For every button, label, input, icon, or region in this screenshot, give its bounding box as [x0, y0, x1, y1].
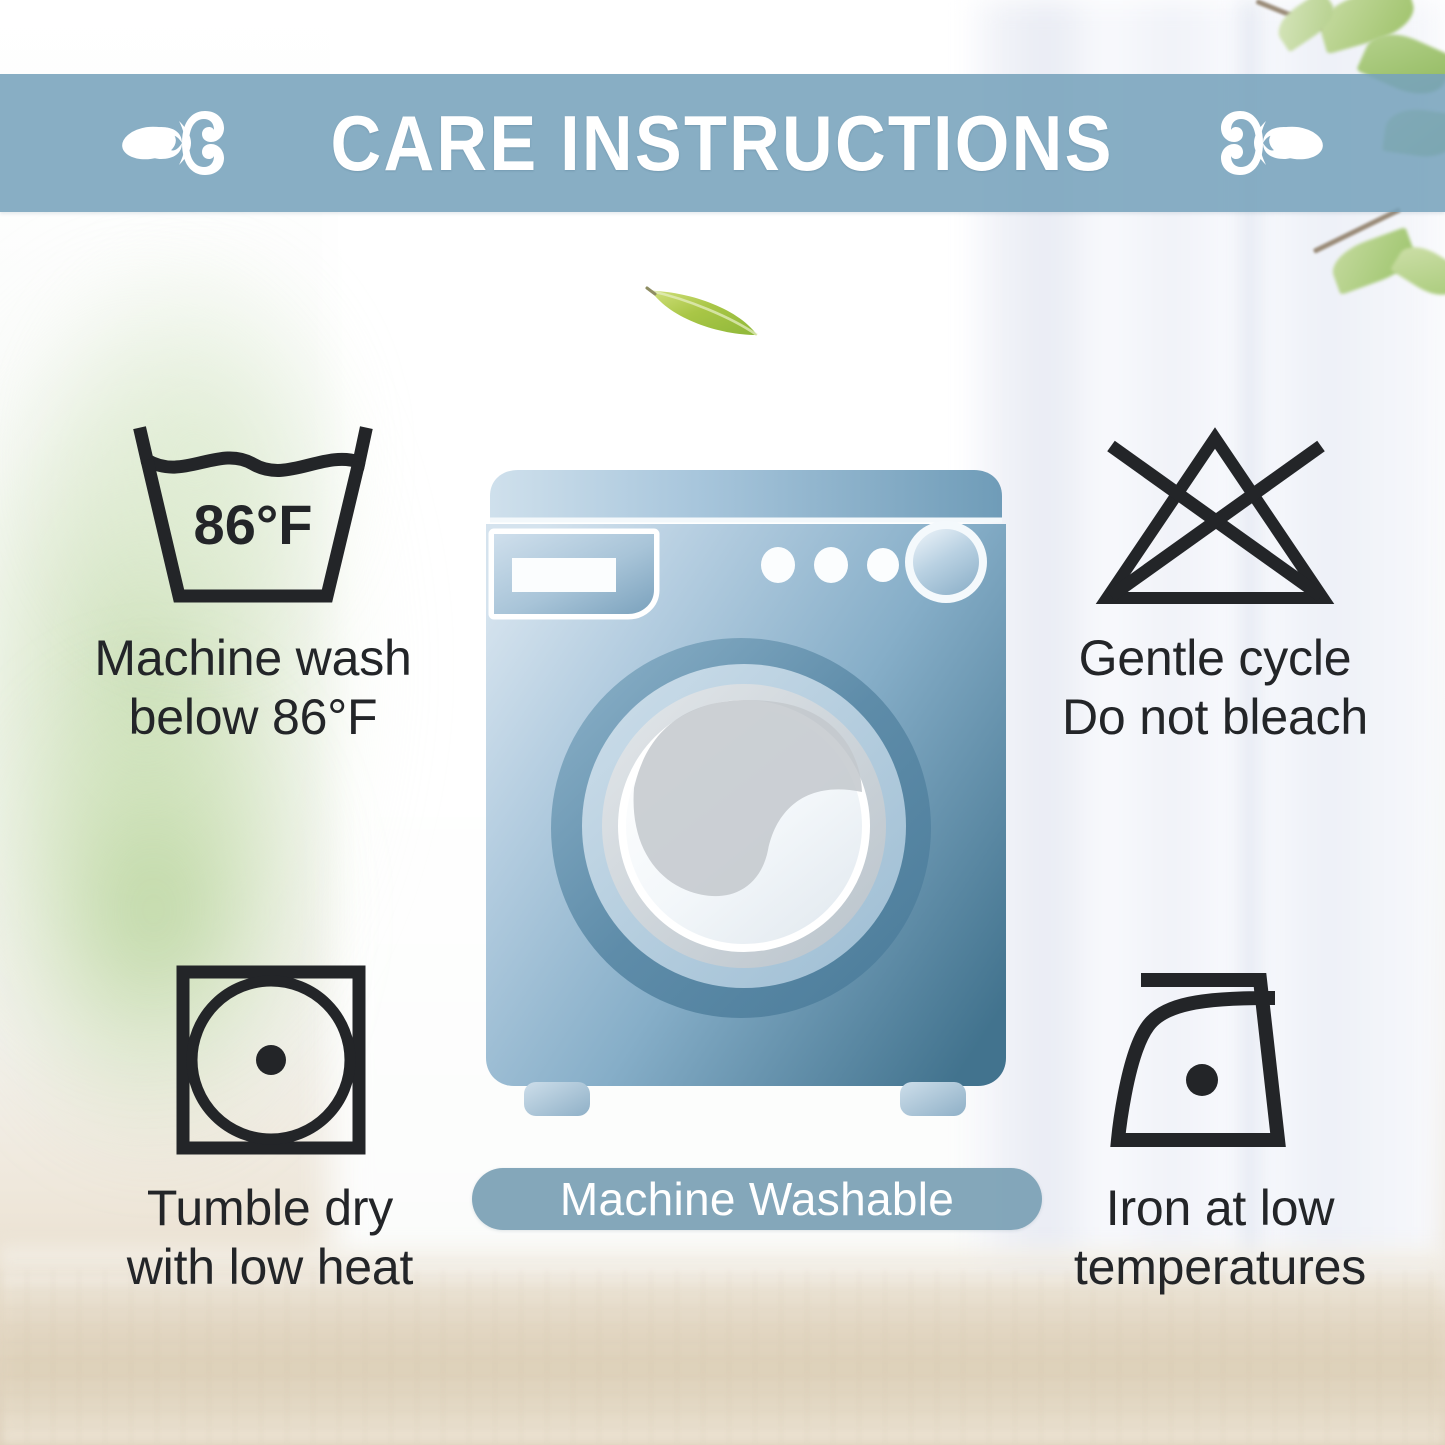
detergent-drawer [494, 534, 654, 614]
indicator-light [867, 548, 899, 582]
washing-machine-illustration [476, 458, 1016, 1138]
care-icon-do-not-bleach: Gentle cycle Do not bleach [1000, 420, 1430, 747]
washer-foot [524, 1082, 590, 1116]
falling-leaf-icon [645, 283, 763, 341]
do-not-bleach-triangle-icon [1085, 420, 1345, 615]
control-knob [905, 521, 987, 603]
care-icon-caption: Iron at low temperatures [1074, 1179, 1366, 1297]
machine-washable-badge: Machine Washable [472, 1168, 1042, 1230]
washer-door [551, 638, 931, 1018]
indicator-light [814, 547, 848, 583]
care-icon-caption: Gentle cycle Do not bleach [1062, 629, 1368, 747]
washer-foot [900, 1082, 966, 1116]
care-icon-machine-wash: 86°F Machine wash below 86°F [38, 420, 468, 747]
fleur-de-lis-left-icon [121, 89, 243, 197]
fleur-de-lis-right-icon [1202, 89, 1324, 197]
indicator-light [761, 547, 795, 583]
care-icon-iron: Iron at low temperatures [1010, 960, 1430, 1297]
header-banner: CARE INSTRUCTIONS [0, 74, 1445, 212]
iron-icon [1090, 960, 1350, 1165]
drawer-handle-slot [512, 558, 616, 592]
care-icon-caption: Machine wash below 86°F [94, 629, 411, 747]
wash-temperature-label: 86°F [194, 493, 313, 556]
washer-top-lid [490, 470, 1002, 520]
care-icon-tumble-dry: Tumble dry with low heat [60, 960, 480, 1297]
badge-label: Machine Washable [560, 1176, 954, 1222]
care-icon-caption: Tumble dry with low heat [127, 1179, 413, 1297]
wash-tub-icon: 86°F [123, 420, 383, 615]
tumble-dry-square-icon [165, 960, 375, 1165]
page-title: CARE INSTRUCTIONS [331, 104, 1114, 182]
care-instructions-graphic: CARE INSTRUCTIONS 86°F Machi [0, 0, 1445, 1445]
